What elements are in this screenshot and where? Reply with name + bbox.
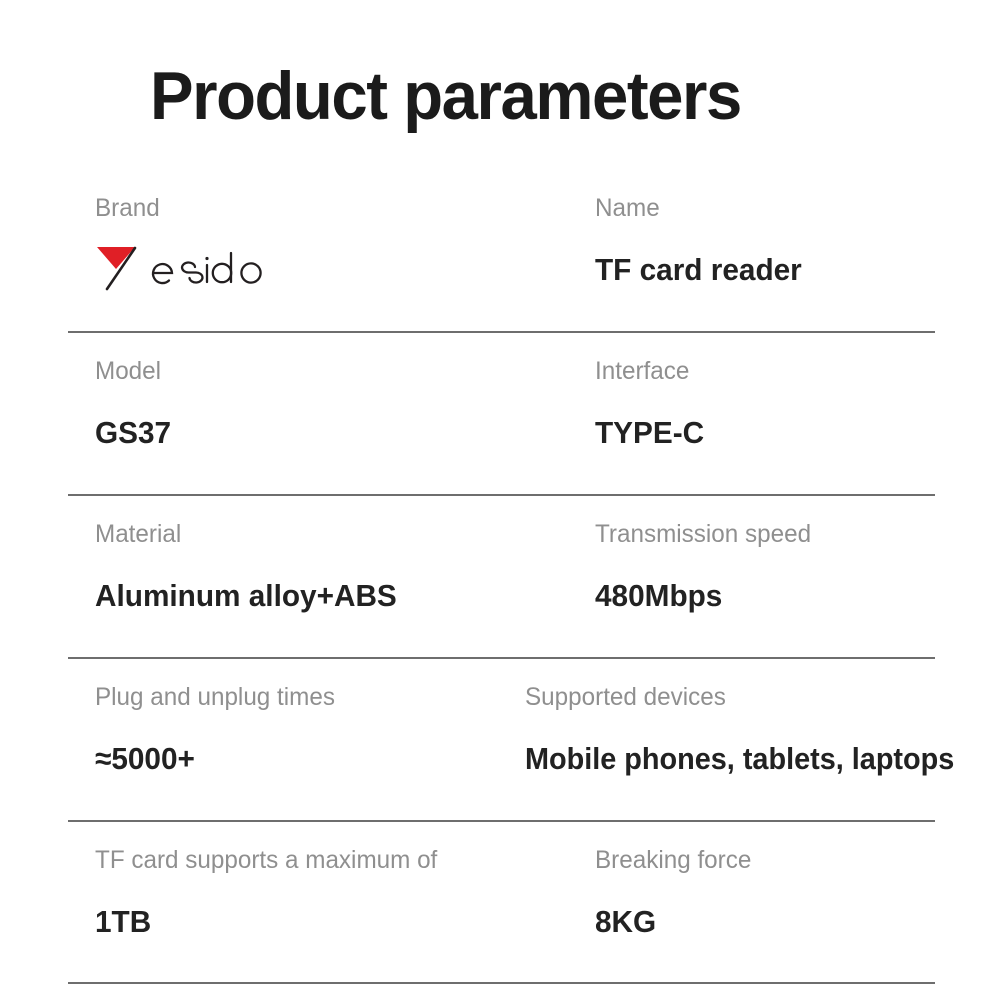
spec-cell-model: Model GS37: [95, 333, 174, 448]
spec-label-model: Model: [95, 359, 172, 384]
spec-value-supported-devices: Mobile phones, tablets, laptops: [525, 743, 954, 774]
spec-cell-brand: Brand: [95, 170, 267, 291]
spec-cell-transmission-speed: Transmission speed 480Mbps: [595, 496, 818, 611]
spec-label-tf-card-max: TF card supports a maximum of: [95, 848, 437, 873]
spec-value-interface: TYPE-C: [595, 417, 704, 448]
spec-label-material: Material: [95, 522, 400, 547]
table-row: Plug and unplug times ≈5000+ Supported d…: [0, 659, 1000, 822]
spec-value-material: Aluminum alloy+ABS: [95, 580, 397, 611]
spec-label-transmission-speed: Transmission speed: [595, 522, 811, 547]
spec-cell-interface: Interface TYPE-C: [595, 333, 709, 448]
spec-value-transmission-speed: 480Mbps: [595, 580, 809, 611]
table-row: Model GS37 Interface TYPE-C: [0, 333, 1000, 496]
table-row: TF card supports a maximum of 1TB Breaki…: [0, 822, 1000, 984]
spec-value-plug-unplug-times: ≈5000+: [95, 743, 332, 774]
spec-value-breaking-force: 8KG: [595, 906, 750, 937]
spec-label-breaking-force: Breaking force: [595, 848, 751, 873]
spec-label-interface: Interface: [595, 359, 705, 384]
spec-value-model: GS37: [95, 417, 171, 448]
spec-cell-breaking-force: Breaking force 8KG: [595, 822, 756, 937]
spec-value-tf-card-max: 1TB: [95, 906, 434, 937]
table-row: Brand: [0, 170, 1000, 333]
spec-label-name: Name: [595, 196, 804, 221]
product-parameters-page: Product parameters Brand: [0, 0, 1000, 1000]
table-row: Material Aluminum alloy+ABS Transmission…: [0, 496, 1000, 659]
yesido-logo: [95, 243, 267, 291]
page-title: Product parameters: [150, 62, 741, 130]
spec-label-brand: Brand: [95, 196, 262, 221]
spec-label-supported-devices: Supported devices: [525, 685, 973, 710]
spec-cell-plug-unplug-times: Plug and unplug times ≈5000+: [95, 659, 342, 774]
spec-table: Brand: [0, 170, 1000, 984]
spec-cell-supported-devices: Supported devices Mobile phones, tablets…: [525, 659, 987, 774]
spec-label-plug-unplug-times: Plug and unplug times: [95, 685, 335, 710]
spec-value-name: TF card reader: [595, 254, 802, 285]
spec-cell-tf-card-max: TF card supports a maximum of 1TB: [95, 822, 448, 937]
spec-cell-name: Name TF card reader: [595, 170, 810, 285]
spec-cell-material: Material Aluminum alloy+ABS: [95, 496, 409, 611]
